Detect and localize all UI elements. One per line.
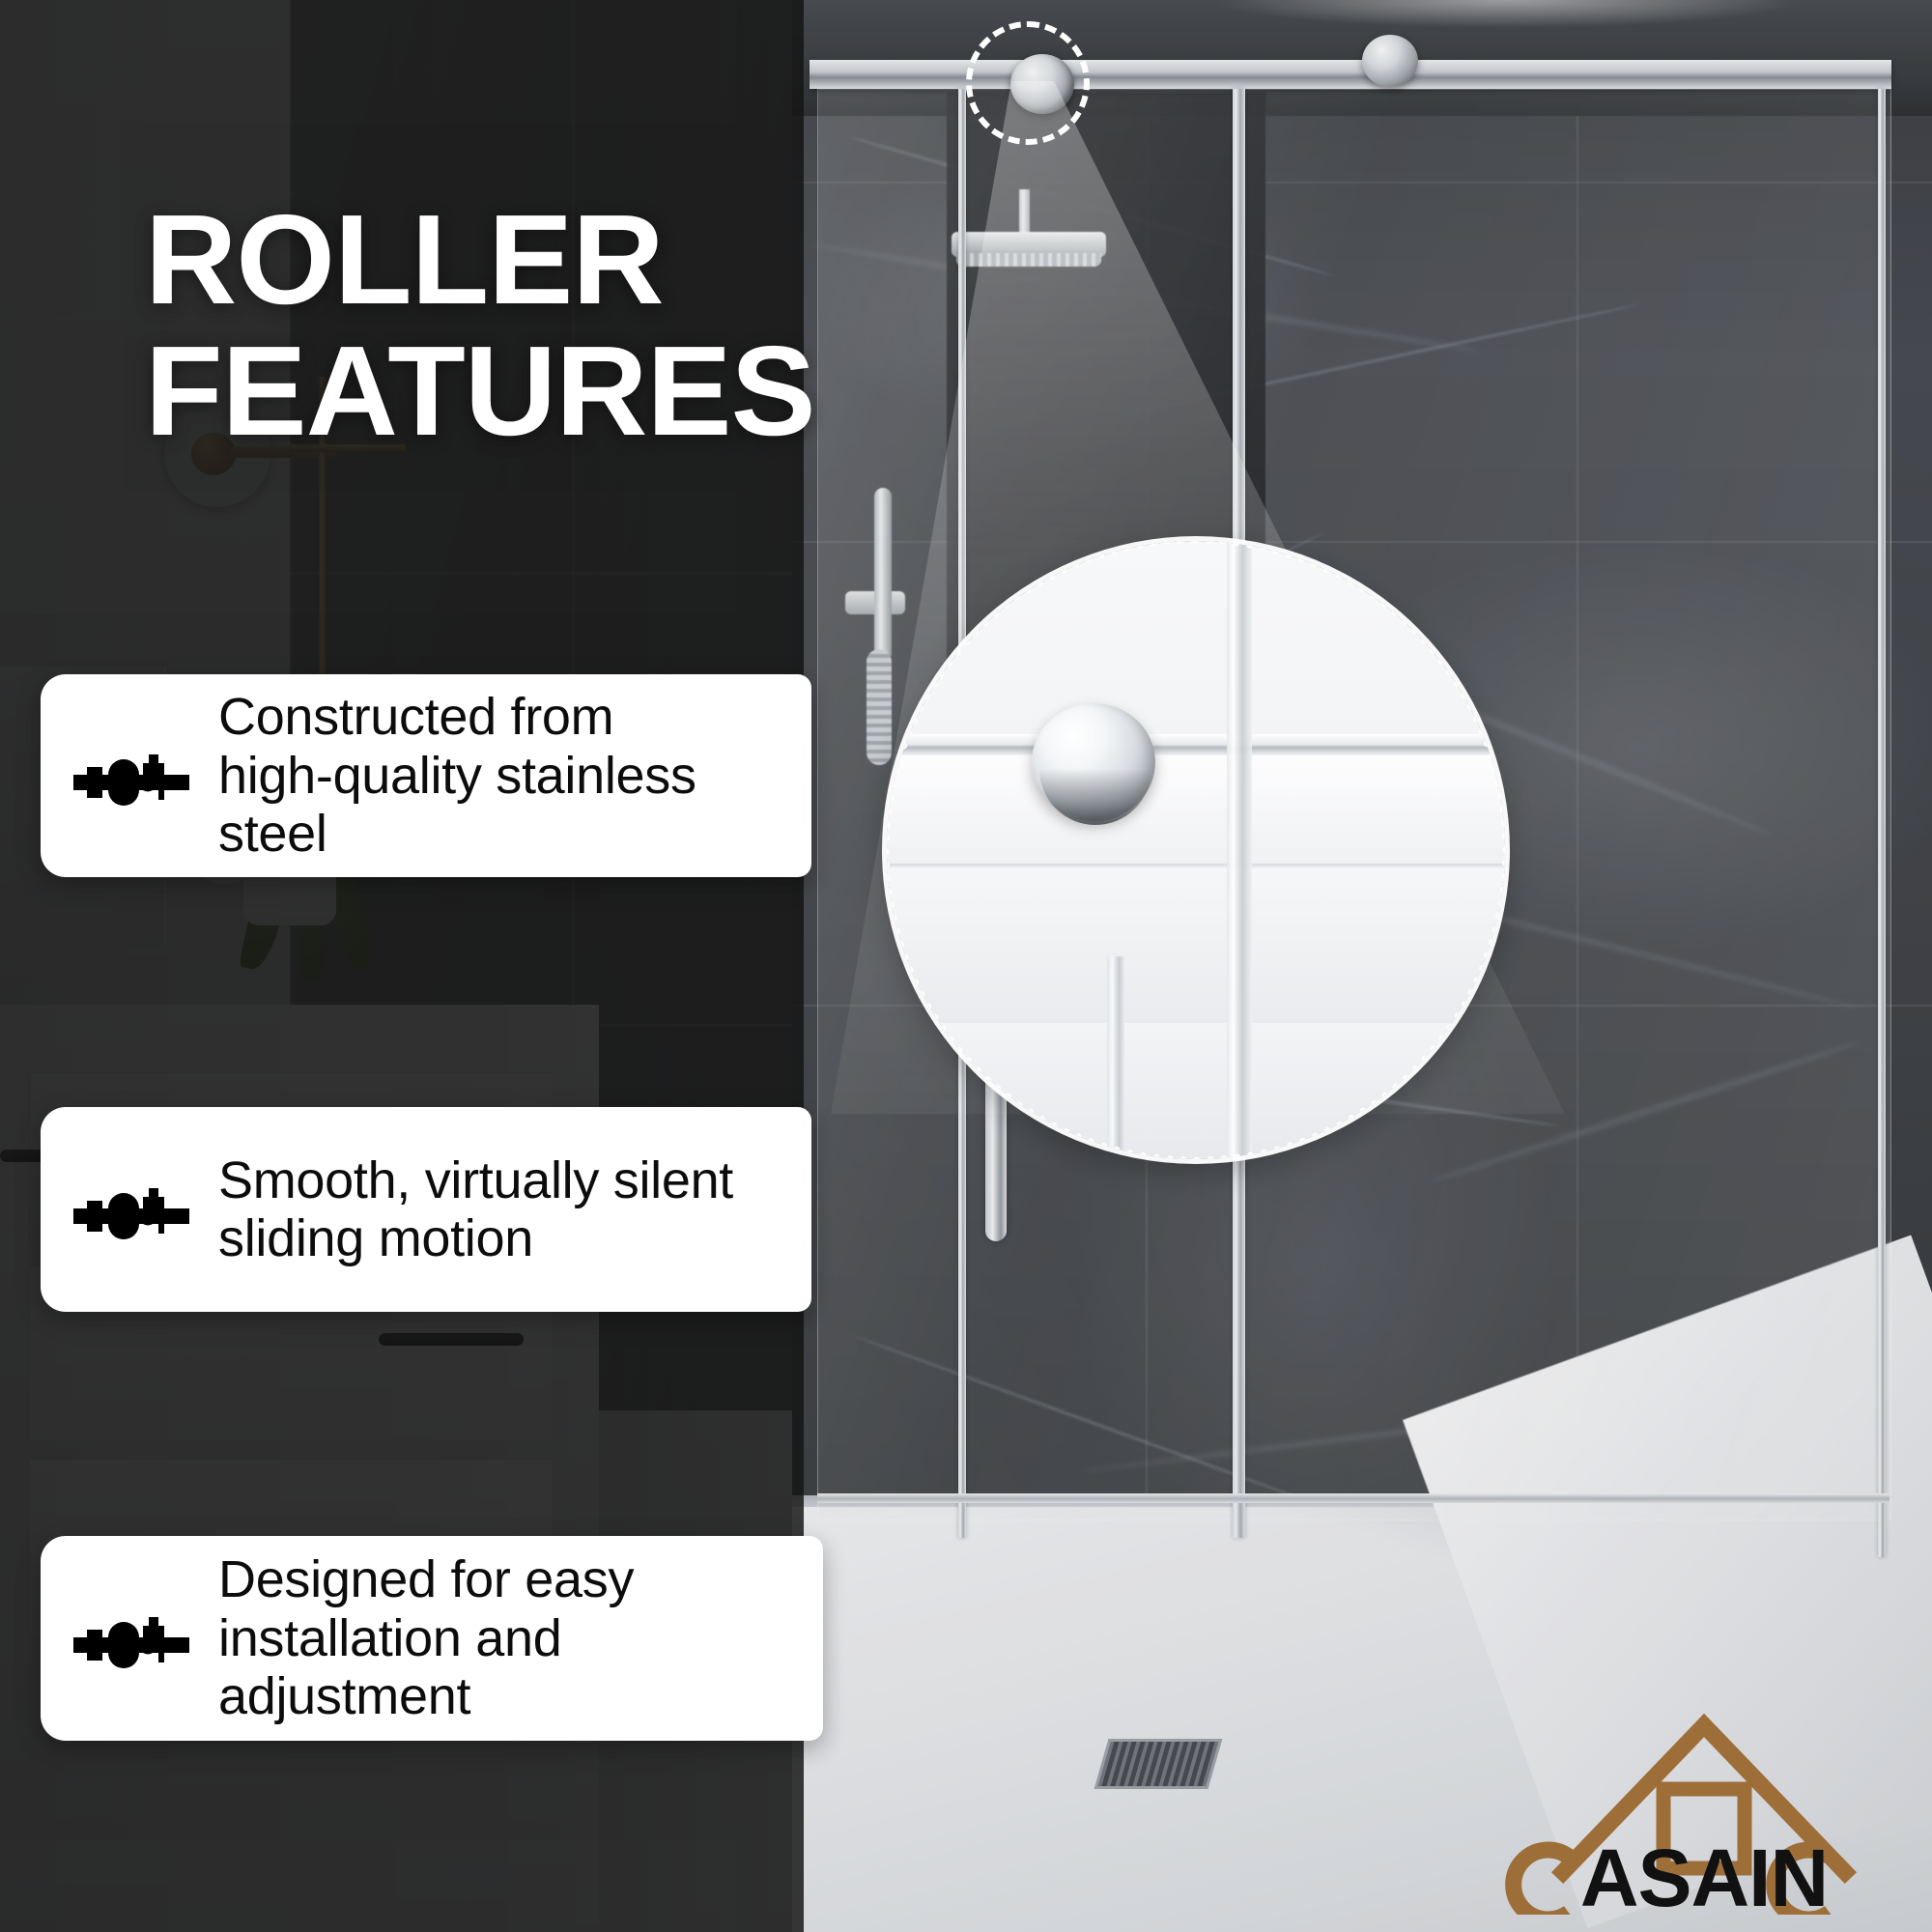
magnifier-rail	[887, 734, 1505, 755]
feature-text: Smooth, virtually silent sliding motion	[218, 1151, 733, 1268]
roller-hardware-icon	[73, 1172, 193, 1247]
title-line-2: FEATURES	[145, 330, 879, 451]
feature-text: Designed for easy installation and adjus…	[218, 1550, 794, 1725]
magnifier-glass-panel-upper	[887, 755, 1505, 864]
magnifier-panel-seam	[887, 864, 1505, 868]
feature-card: Constructed from high-quality stainless …	[41, 674, 811, 877]
magnifier-mullion	[1227, 541, 1252, 1159]
logo-wordmark: ASAIN	[1580, 1833, 1828, 1915]
product-feature-graphic: ROLLER FEATURES Constructed from high-qu…	[0, 0, 1932, 1932]
roller-hardware-icon	[73, 738, 193, 813]
magnifier-glass-panel-lower	[887, 868, 1505, 1023]
feature-card: Designed for easy installation and adjus…	[41, 1536, 823, 1741]
roller-highlight-marker-icon	[966, 21, 1090, 145]
roller-closeup-magnifier	[887, 541, 1505, 1159]
page-title: ROLLER FEATURES	[145, 199, 879, 451]
logo-ring-left-icon	[1514, 1850, 1569, 1915]
roller-hardware-icon	[73, 1601, 193, 1676]
feature-text: Constructed from high-quality stainless …	[218, 688, 782, 863]
title-line-1: ROLLER	[145, 188, 664, 330]
magnifier-mullion-secondary	[1107, 956, 1124, 1159]
magnifier-lower-glass	[887, 1023, 1505, 1159]
brand-logo: ASAIN	[1499, 1708, 1909, 1915]
feature-card: Smooth, virtually silent sliding motion	[41, 1107, 811, 1312]
